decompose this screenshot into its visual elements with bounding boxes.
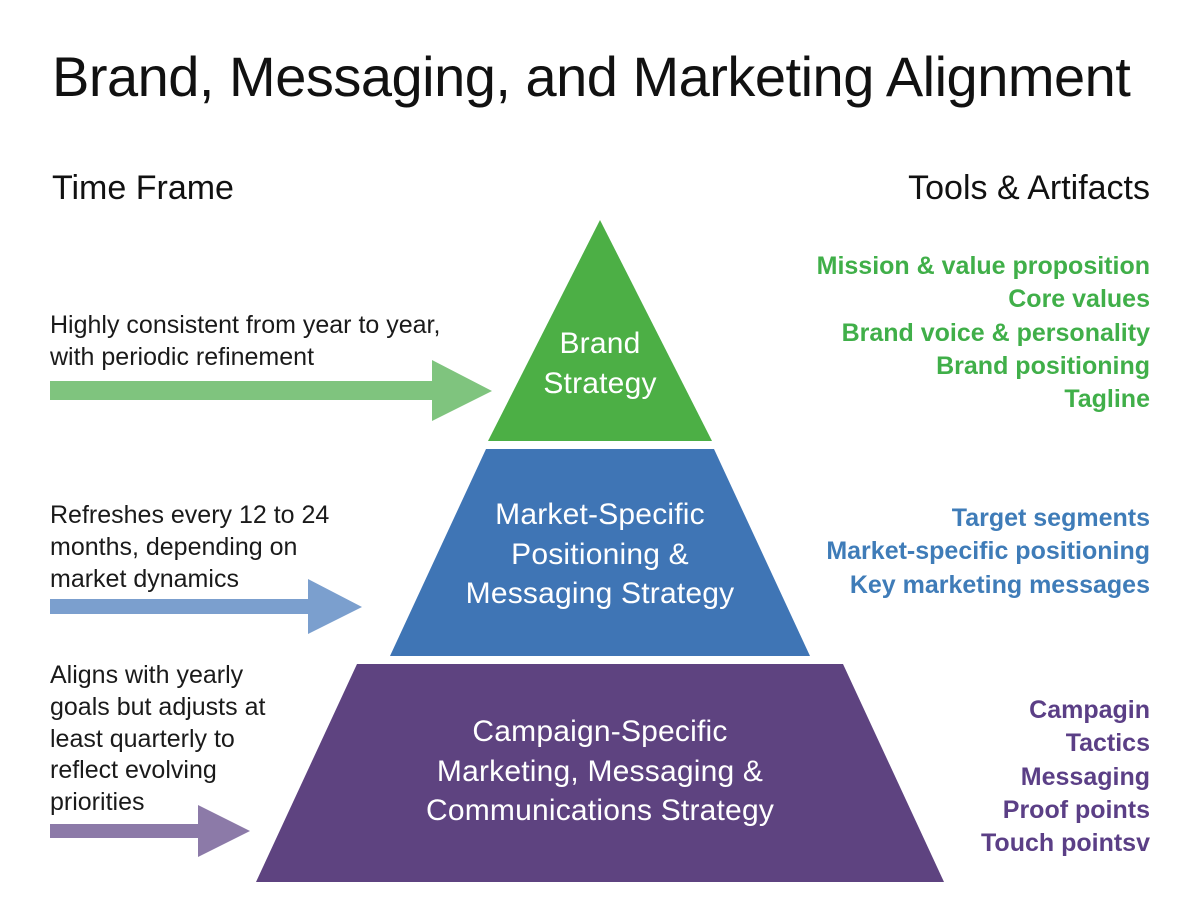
- artifact-item: Touch pointsv: [981, 827, 1150, 860]
- tier-label-line: Campaign-Specific: [375, 712, 825, 752]
- artifact-item: Messaging: [981, 761, 1150, 794]
- tier-label-campaign-specific: Campaign-Specific Marketing, Messaging &…: [375, 712, 825, 831]
- time-frame-brand-strategy: Highly consistent from year to year, wit…: [50, 310, 442, 374]
- tier-label-market-specific-positioning: Market-Specific Positioning & Messaging …: [455, 495, 745, 614]
- column-heading-time-frame: Time Frame: [52, 170, 234, 207]
- tier-label-line: Messaging Strategy: [455, 574, 745, 614]
- tier-label-line: Strategy: [490, 364, 710, 404]
- artifact-list-campaign-specific: Campagin Tactics Messaging Proof points …: [981, 694, 1150, 860]
- artifact-item: Tactics: [981, 727, 1150, 760]
- artifact-item: Key marketing messages: [826, 569, 1150, 602]
- tier-label-line: Communications Strategy: [375, 791, 825, 831]
- tier-label-line: Brand: [490, 324, 710, 364]
- artifact-item: Core values: [817, 283, 1150, 316]
- page-title: Brand, Messaging, and Marketing Alignmen…: [52, 48, 1162, 107]
- artifact-item: Tagline: [817, 383, 1150, 416]
- tier-label-line: Positioning &: [455, 535, 745, 575]
- time-frame-campaign-specific: Aligns with yearly goals but adjusts at …: [50, 660, 294, 819]
- artifact-item: Brand positioning: [817, 350, 1150, 383]
- artifact-list-brand-strategy: Mission & value proposition Core values …: [817, 250, 1150, 416]
- artifact-item: Target segments: [826, 502, 1150, 535]
- artifact-item: Brand voice & personality: [817, 317, 1150, 350]
- time-frame-market-specific-positioning: Refreshes every 12 to 24 months, dependi…: [50, 500, 380, 595]
- artifact-item: Market-specific positioning: [826, 535, 1150, 568]
- tier-label-brand-strategy: Brand Strategy: [490, 324, 710, 403]
- tier-label-line: Market-Specific: [455, 495, 745, 535]
- artifact-item: Mission & value proposition: [817, 250, 1150, 283]
- slide-canvas: Brand, Messaging, and Marketing Alignmen…: [0, 0, 1200, 918]
- column-heading-tools-artifacts: Tools & Artifacts: [908, 170, 1150, 207]
- tier-label-line: Marketing, Messaging &: [375, 752, 825, 792]
- artifact-item: Campagin: [981, 694, 1150, 727]
- artifact-item: Proof points: [981, 794, 1150, 827]
- artifact-list-market-specific-positioning: Target segments Market-specific position…: [826, 502, 1150, 602]
